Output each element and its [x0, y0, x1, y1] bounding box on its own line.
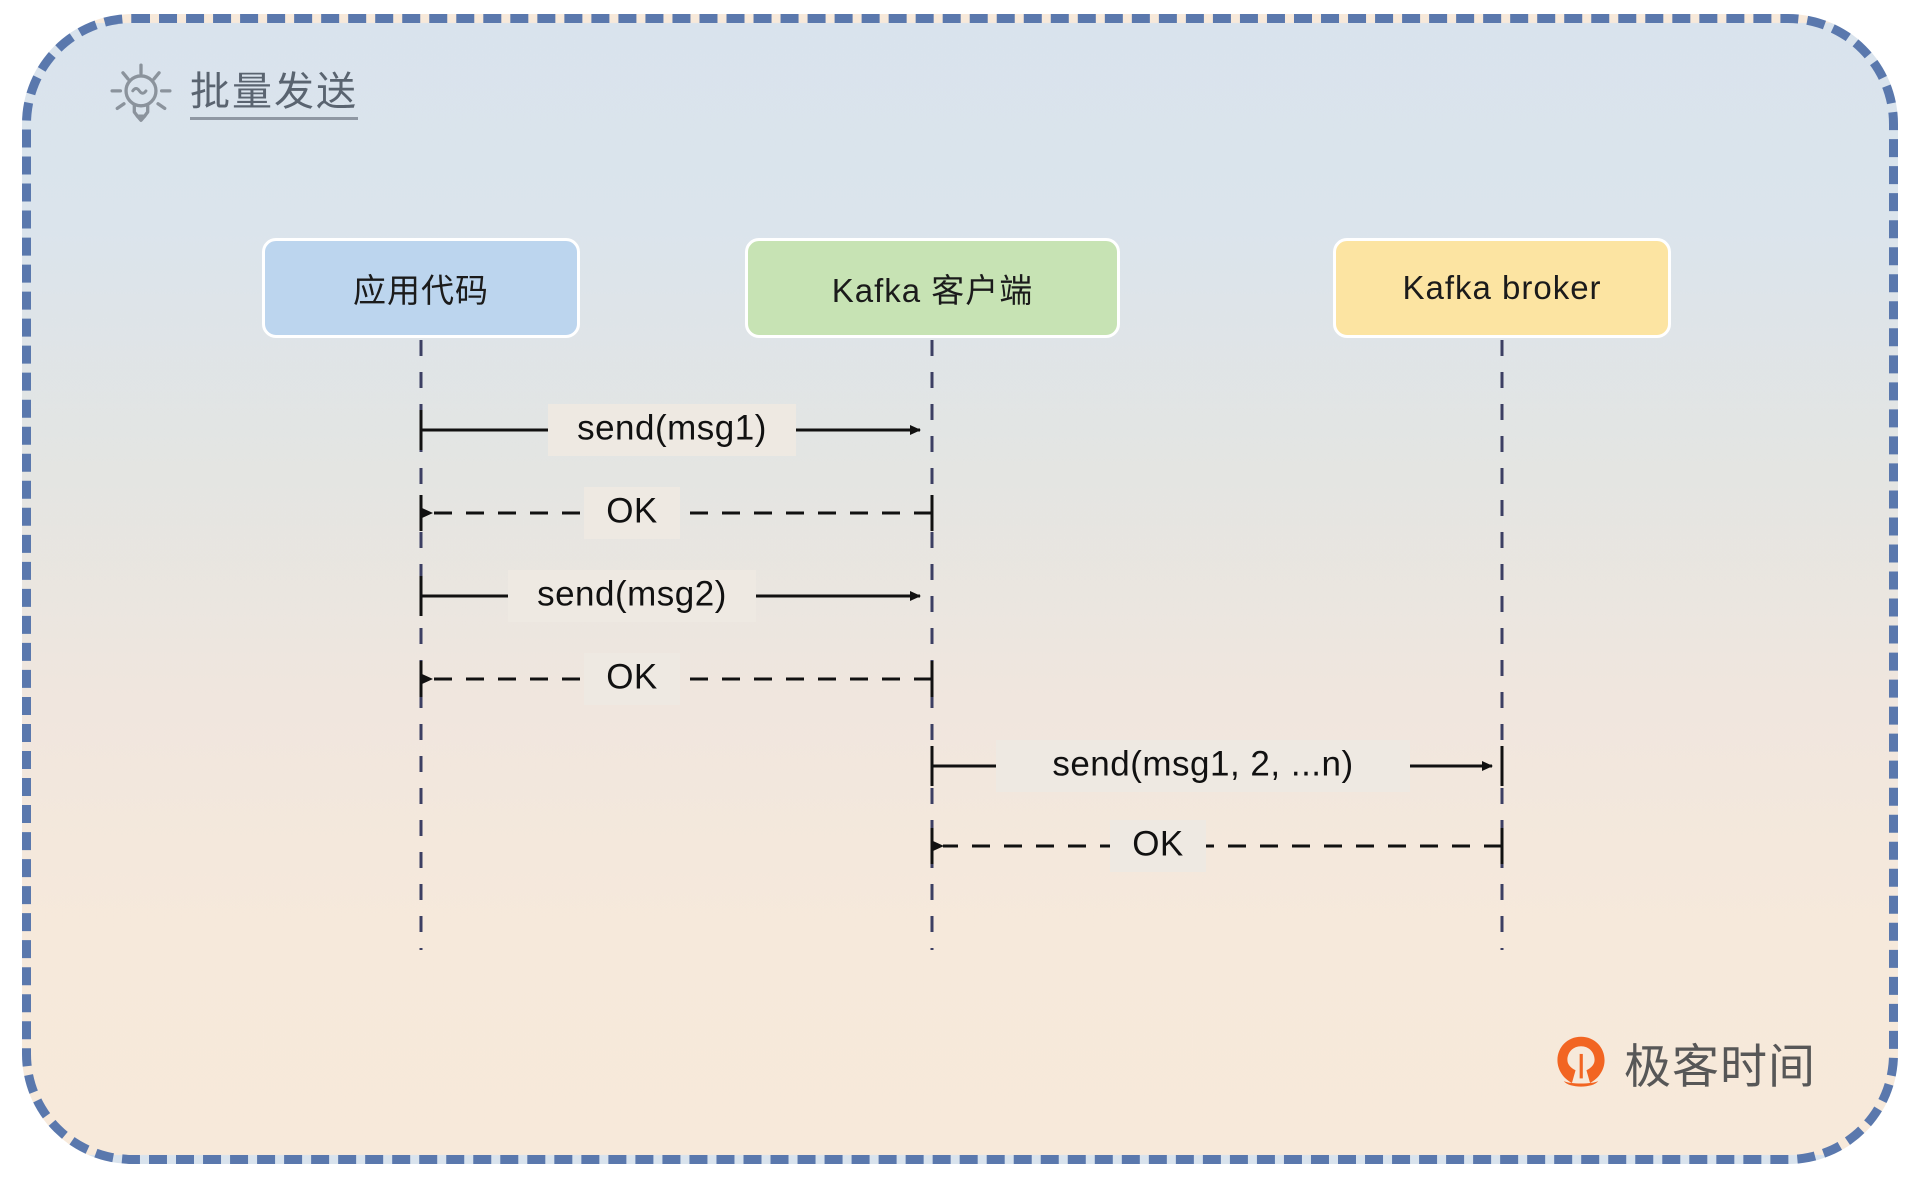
actor-label: 应用代码 [353, 264, 489, 312]
actor-label: Kafka 客户端 [832, 264, 1034, 312]
actor-app-code[interactable]: 应用代码 [262, 238, 580, 338]
geektime-logo-icon [1552, 1034, 1610, 1092]
actor-label: Kafka broker [1402, 269, 1601, 307]
diagram-header: 批量发送 [108, 62, 358, 128]
diagram-frame [22, 14, 1898, 1164]
brand-name: 极客时间 [1624, 1028, 1816, 1097]
actor-kafka-client[interactable]: Kafka 客户端 [745, 238, 1120, 338]
page-title: 批量发送 [190, 71, 358, 120]
lightbulb-icon [108, 62, 174, 128]
actor-kafka-broker[interactable]: Kafka broker [1333, 238, 1671, 338]
diagram-canvas: 批量发送 应用代码 Kafka 客户端 Kafka broker send(ms… [0, 0, 1920, 1182]
brand-watermark: 极客时间 [1552, 1028, 1816, 1097]
